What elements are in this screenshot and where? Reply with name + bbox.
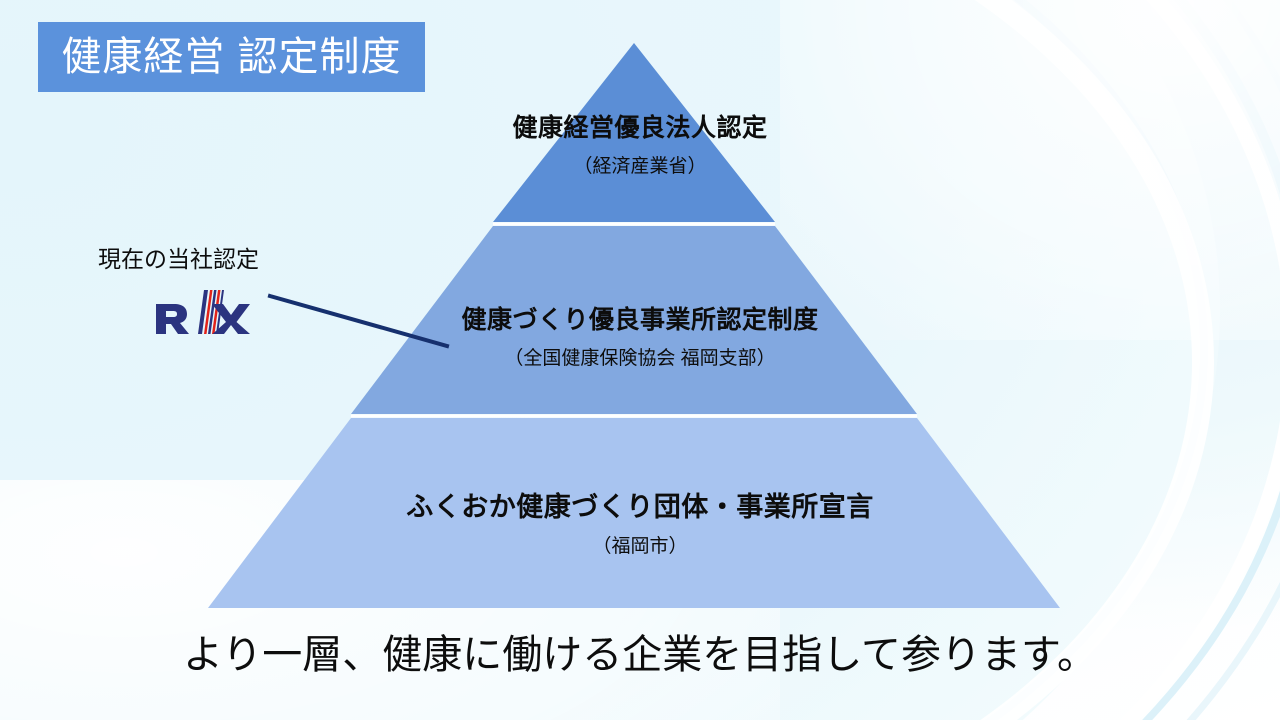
rix-logo [92,290,312,336]
slide-title: 健康経営 認定制度 [61,37,401,77]
tier-bottom-heading: ふくおか健康づくり団体・事業所宣言 [0,485,1280,524]
pyramid-tier-top-label: 健康経営優良法人認定 （経済産業省） [0,108,1280,178]
annotation-label: 現在の当社認定 [92,240,312,274]
slide-caption: より一層、健康に働ける企業を目指して参ります。 [0,622,1280,680]
title-banner: 健康経営 認定制度 [38,22,425,92]
tier-top-heading: 健康経営優良法人認定 [0,108,1280,144]
pyramid-tier-bottom-label: ふくおか健康づくり団体・事業所宣言 （福岡市） [0,485,1280,558]
tier-middle-subtitle: （全国健康保険協会 福岡支部） [0,343,1280,370]
tier-top-subtitle: （経済産業省） [0,151,1280,178]
tier-bottom-subtitle: （福岡市） [0,531,1280,558]
slide-canvas: 健康経営優良法人認定 （経済産業省） 健康づくり優良事業所認定制度 （全国健康保… [0,0,1280,720]
rix-logo-icon [154,290,250,336]
current-certification-annotation: 現在の当社認定 [92,240,312,336]
